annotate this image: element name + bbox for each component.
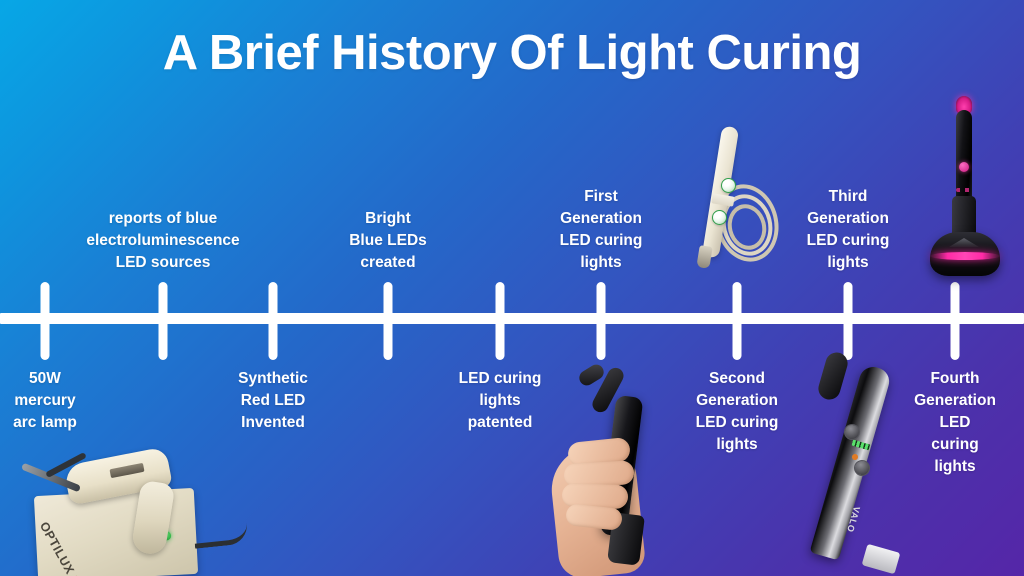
timeline-tick-4	[384, 282, 393, 360]
corded-curing-wand-image	[664, 122, 782, 282]
timeline-label-1: 50W mercury arc lamp	[13, 368, 77, 434]
timeline-label-3: Synthetic Red LED Invented	[238, 368, 308, 434]
charging-base-light-ring	[930, 252, 1000, 260]
cordless-curing-light-image	[912, 92, 1016, 282]
timeline-label-7: Second Generation LED curing lights	[696, 368, 779, 456]
timeline-label-2: reports of blue electroluminescence LED …	[86, 208, 239, 274]
timeline-label-8: Third Generation LED curing lights	[807, 186, 890, 274]
valo-head	[816, 350, 850, 402]
valo-curing-wand-image: VALO	[806, 352, 918, 576]
infographic-canvas: A Brief History Of Light Curing 50W merc…	[0, 0, 1024, 576]
timeline-tick-8	[844, 282, 853, 360]
mode-button-icon	[712, 210, 727, 225]
timeline-tick-9	[951, 282, 960, 360]
timeline-tick-3	[269, 282, 278, 360]
timeline-label-4: Bright Blue LEDs created	[349, 208, 427, 274]
optilux-250-image: OPTILUX 250 LIGHT POLYMERIZER	[14, 452, 242, 576]
timeline-label-5: LED curing lights patented	[459, 368, 542, 434]
timeline-tick-7	[733, 282, 742, 360]
optilux-brand-label: OPTILUX 250 LIGHT POLYMERIZER	[37, 519, 120, 576]
timeline-tick-2	[159, 282, 168, 360]
page-title: A Brief History Of Light Curing	[0, 26, 1024, 81]
timeline-label-9: Fourth Generation LED curing lights	[914, 368, 996, 478]
timeline-label-6: First Generation LED curing lights	[560, 186, 643, 274]
timeline-axis	[0, 313, 1024, 324]
power-button-icon	[721, 178, 736, 193]
wand-light-tip	[696, 245, 712, 269]
optilux-brand-text: OPTILUX	[37, 519, 77, 576]
timeline-tick-6	[597, 282, 606, 360]
timeline-tick-1	[41, 282, 50, 360]
optilux-power-cord	[193, 523, 249, 549]
timeline-tick-5	[496, 282, 505, 360]
cordless-power-button	[959, 162, 969, 172]
optilux-console: OPTILUX 250 LIGHT POLYMERIZER	[34, 488, 198, 576]
valo-foot	[862, 544, 901, 575]
hand-holding-curing-light-image	[548, 362, 680, 576]
cordless-indicator-dots	[956, 188, 972, 192]
